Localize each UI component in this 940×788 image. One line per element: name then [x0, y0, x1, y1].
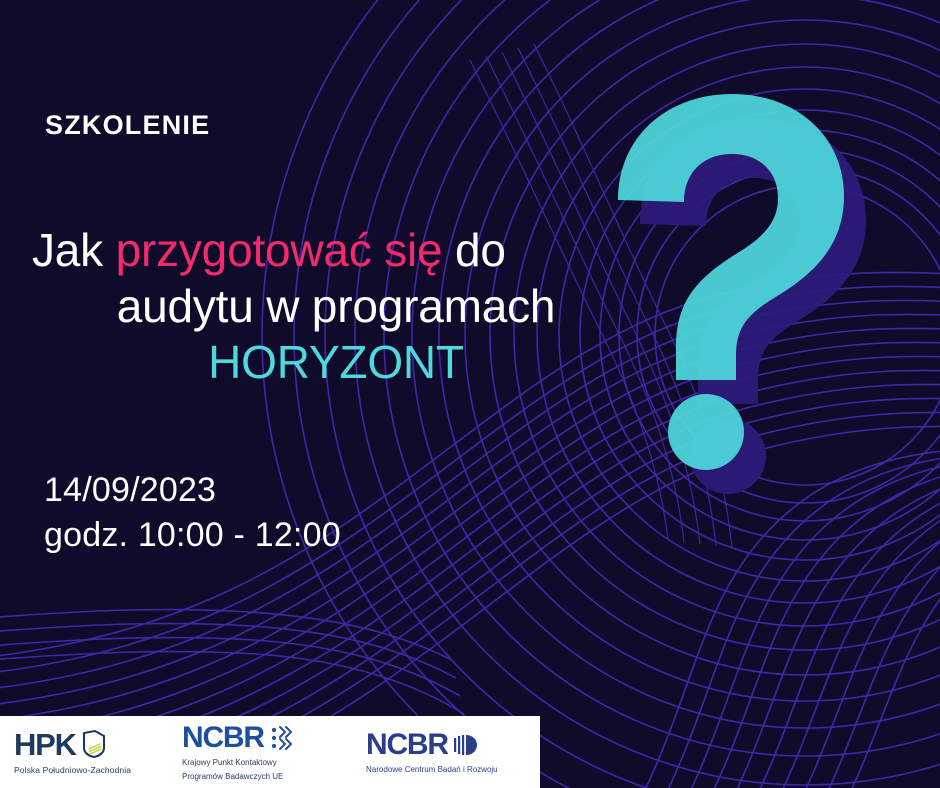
logo-hpk-subtitle: Polska Południowo-Zachodnia	[14, 765, 166, 775]
headline-text-pre: Jak	[32, 224, 116, 276]
event-date: 14/09/2023	[44, 468, 341, 513]
dots-chevrons-icon	[269, 724, 293, 752]
logo-ncbr-subtitle: Narodowe Centrum Badań i Rozwoju	[366, 765, 538, 774]
headline-text-post: do	[442, 224, 505, 276]
logo-hpk: HPK Polska Południowo-Zachodnia	[14, 729, 166, 775]
logo-kpk-subtitle-line-2: Programów Badawczych UE	[182, 772, 352, 781]
event-time: godz. 10:00 - 12:00	[44, 513, 341, 558]
headline-line-2: audytu w programach	[26, 278, 646, 334]
logo-hpk-row: HPK	[14, 729, 166, 760]
bars-semicircle-icon	[453, 732, 479, 758]
logo-kpk-row: NCBR	[182, 723, 352, 753]
training-announcement-poster: SZKOLENIE Jak przygotować się do audytu …	[0, 0, 940, 788]
bg-ripple-group-lower-left	[0, 610, 464, 714]
headline-accent-pink: przygotować się	[116, 224, 443, 276]
shield-icon	[81, 729, 107, 759]
logo-bar: HPK Polska Południowo-Zachodnia NCBR	[0, 716, 540, 788]
logo-hpk-wordmark: HPK	[14, 729, 76, 760]
eyebrow-label: SZKOLENIE	[45, 112, 210, 139]
logo-kpk-subtitle-line-1: Krajowy Punkt Kontaktowy	[182, 758, 352, 767]
logo-ncbr-row: NCBR	[366, 730, 538, 760]
headline-line-1: Jak przygotować się do	[26, 222, 646, 278]
logo-ncbr-wordmark: NCBR	[366, 730, 448, 760]
logo-ncbr: NCBR Narodowe Centrum Badań i Rozwoju	[366, 730, 538, 774]
page-title: Jak przygotować się do audytu w programa…	[26, 222, 646, 390]
headline-line-3-horyzont: HORYZONT	[26, 334, 646, 390]
logo-kpk-wordmark: NCBR	[182, 723, 264, 753]
event-datetime: 14/09/2023 godz. 10:00 - 12:00	[44, 468, 341, 558]
logo-kpk: NCBR Krajowy Punkt Kontaktowy	[182, 723, 352, 782]
